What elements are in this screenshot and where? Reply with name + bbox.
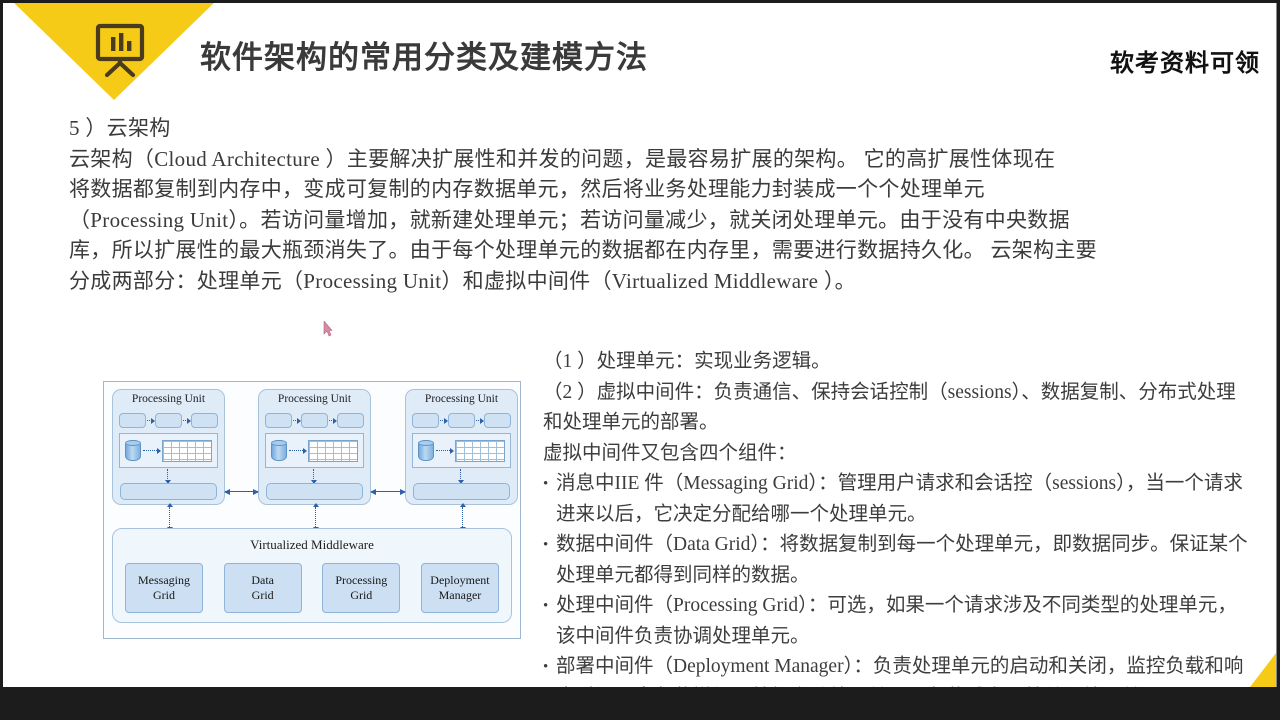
bullet-item: • 部署中间件（Deployment Manager）：负责处理单元的启动和关闭… (543, 652, 1253, 687)
unit-interconnect-arrow-icon (225, 491, 258, 493)
processing-unit-chain (412, 412, 511, 429)
chip-node (155, 413, 182, 428)
bullet-item: • 消息中IIE 件（Messaging Grid）：管理用户请求和会话控（se… (543, 469, 1253, 530)
corner-accent-triangle (1250, 653, 1276, 687)
intro-line: 将数据都复制到内存中，变成可复制的内存数据单元，然后将业务处理能力封装成一个个处… (69, 174, 1249, 205)
bullet-marker-icon: • (543, 530, 556, 591)
bullet-marker-icon: • (543, 469, 556, 530)
processing-unit-chain (119, 412, 218, 429)
intro-line: 分成两部分：处理单元（Processing Unit）和虚拟中间件（Virtua… (69, 266, 1249, 297)
vertical-link-arrow-icon (313, 469, 315, 481)
intro-heading: 5 ）云架构 (69, 113, 1249, 144)
bullet-text: 消息中IIE 件（Messaging Grid）：管理用户请求和会话控（sess… (556, 469, 1253, 530)
component-label-line1: Data (251, 573, 274, 588)
chip-node (265, 413, 292, 428)
middleware-component-deployment-manager: Deployment Manager (421, 563, 499, 613)
virtualized-middleware-box: Virtualized Middleware Messaging Grid Da… (112, 528, 512, 623)
memory-grid-table (308, 440, 358, 462)
chip-node (119, 413, 146, 428)
chain-arrow-icon (440, 420, 447, 422)
intro-line: 库，所以扩展性的最大瓶颈消失了。由于每个处理单元的数据都在内存里，需要进行数据持… (69, 235, 1249, 266)
chip-node (412, 413, 439, 428)
presentation-board-chart-icon (89, 19, 151, 81)
intro-text-block: 5 ）云架构 云架构（Cloud Architecture ）主要解决扩展性和并… (69, 113, 1249, 296)
intro-line: 云架构（Cloud Architecture ）主要解决扩展性和并发的问题，是最… (69, 144, 1249, 175)
processing-unit-title: Processing Unit (259, 393, 370, 405)
middleware-link-arrow-icon (315, 507, 317, 527)
processing-unit-bus-bar (266, 483, 363, 500)
vertical-link-arrow-icon (167, 469, 169, 481)
chain-arrow-icon (476, 420, 483, 422)
processing-unit-title: Processing Unit (113, 393, 224, 405)
replication-arrow-icon (289, 450, 305, 452)
middleware-component-data-grid: Data Grid (224, 563, 302, 613)
database-cylinder-icon (125, 440, 141, 461)
right-paragraph: （2 ）虚拟中间件：负责通信、保持会话控制（sessions）、数据复制、分布式… (543, 378, 1253, 439)
slide-header: 软件架构的常用分类及建模方法 软考资料可领 (3, 3, 1276, 103)
right-text-column: （1 ）处理单元：实现业务逻辑。 （2 ）虚拟中间件：负责通信、保持会话控制（s… (543, 347, 1253, 687)
processing-unit-box: Processing Unit (405, 389, 518, 505)
component-label-line2: Grid (153, 588, 175, 603)
component-label-line2: Manager (439, 588, 482, 603)
middleware-component-processing-grid: Processing Grid (322, 563, 400, 613)
bullet-marker-icon: • (543, 652, 556, 687)
chain-arrow-icon (183, 420, 190, 422)
processing-unit-datastore (119, 433, 218, 468)
replication-arrow-icon (436, 450, 452, 452)
processing-unit-datastore (265, 433, 364, 468)
intro-line: （Processing Unit）。若访问量增加，就新建处理单元；若访问量减少，… (69, 205, 1249, 236)
component-label-line2: Grid (350, 588, 372, 603)
chip-node (448, 413, 475, 428)
chain-arrow-icon (329, 420, 336, 422)
page-title: 软件架构的常用分类及建模方法 (200, 32, 648, 77)
component-label-line2: Grid (252, 588, 274, 603)
database-cylinder-icon (418, 440, 434, 461)
cloud-architecture-diagram: Processing Unit Processing U (103, 381, 521, 639)
right-paragraph: （1 ）处理单元：实现业务逻辑。 (543, 347, 1253, 378)
bullet-text: 部署中间件（Deployment Manager）：负责处理单元的启动和关闭，监… (556, 652, 1253, 687)
processing-unit-bus-bar (120, 483, 217, 500)
chip-node (337, 413, 364, 428)
middleware-component-messaging-grid: Messaging Grid (125, 563, 203, 613)
chip-node (301, 413, 328, 428)
right-paragraph: 虚拟中间件又包含四个组件： (543, 439, 1253, 470)
processing-unit-title: Processing Unit (406, 393, 517, 405)
slide-root: 软件架构的常用分类及建模方法 软考资料可领 5 ）云架构 云架构（Cloud A… (0, 0, 1280, 720)
processing-unit-datastore (412, 433, 511, 468)
chain-arrow-icon (293, 420, 300, 422)
chip-node (191, 413, 218, 428)
processing-unit-box: Processing Unit (112, 389, 225, 505)
component-label-line1: Deployment (430, 573, 489, 588)
processing-unit-chain (265, 412, 364, 429)
bullet-marker-icon: • (543, 591, 556, 652)
processing-unit-box: Processing Unit (258, 389, 371, 505)
middleware-link-arrow-icon (169, 507, 171, 527)
bullet-item: • 数据中间件（Data Grid）：将数据复制到每一个处理单元，即数据同步。保… (543, 530, 1253, 591)
chain-arrow-icon (147, 420, 154, 422)
replication-arrow-icon (143, 450, 159, 452)
mouse-cursor-icon (323, 321, 333, 337)
bullet-text: 处理中间件（Processing Grid）：可选，如果一个请求涉及不同类型的处… (556, 591, 1253, 652)
vertical-link-arrow-icon (460, 469, 462, 481)
bullet-item: • 处理中间件（Processing Grid）：可选，如果一个请求涉及不同类型… (543, 591, 1253, 652)
middleware-link-arrow-icon (462, 507, 464, 527)
bullet-text: 数据中间件（Data Grid）：将数据复制到每一个处理单元，即数据同步。保证某… (556, 530, 1253, 591)
processing-unit-bus-bar (413, 483, 510, 500)
database-cylinder-icon (271, 440, 287, 461)
middleware-component-row: Messaging Grid Data Grid Processing Grid… (125, 563, 499, 613)
virtualized-middleware-title: Virtualized Middleware (113, 537, 511, 553)
memory-grid-table (455, 440, 505, 462)
component-label-line1: Messaging (138, 573, 190, 588)
header-badge: 软考资料可领 (1110, 43, 1260, 78)
memory-grid-table (162, 440, 212, 462)
component-label-line1: Processing (335, 573, 387, 588)
chip-node (484, 413, 511, 428)
unit-interconnect-arrow-icon (371, 491, 405, 493)
slide-page: 软件架构的常用分类及建模方法 软考资料可领 5 ）云架构 云架构（Cloud A… (3, 3, 1277, 687)
